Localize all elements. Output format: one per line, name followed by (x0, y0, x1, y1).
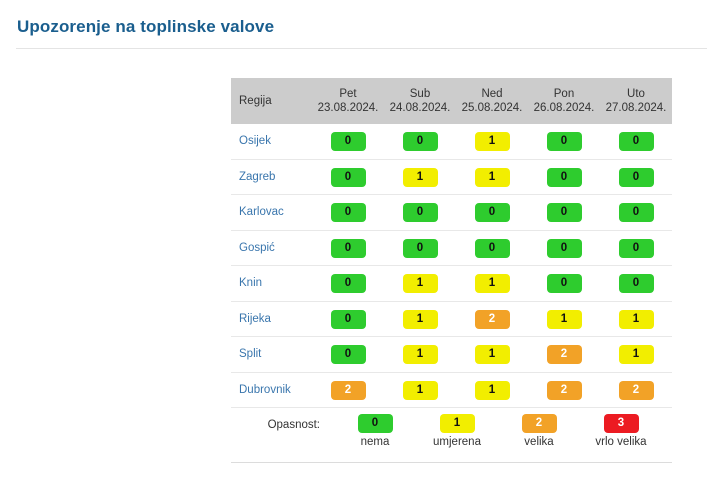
page-title: Upozorenje na toplinske valove (17, 17, 274, 37)
heat-wave-warning-page: Upozorenje na toplinske valove Regija Pe… (0, 0, 723, 494)
warning-level-cell: 1 (384, 159, 456, 195)
column-header-day-0: Pet 23.08.2024. (312, 78, 384, 124)
warning-level-badge: 1 (475, 132, 510, 151)
day-date-3: 26.08.2024. (528, 101, 600, 115)
warning-level-cell: 0 (528, 124, 600, 160)
warning-level-badge: 1 (619, 310, 654, 329)
warning-level-cell: 1 (456, 372, 528, 408)
warning-level-cell: 0 (600, 266, 672, 302)
day-date-2: 25.08.2024. (456, 101, 528, 115)
warning-level-badge: 2 (619, 381, 654, 400)
day-name-1: Sub (384, 87, 456, 101)
table-row: Zagreb01100 (231, 159, 672, 195)
legend-item-label: nema (361, 436, 390, 448)
warning-level-cell: 1 (600, 337, 672, 373)
table-header-row: Regija Pet 23.08.2024. Sub 24.08.2024. N… (231, 78, 672, 124)
warning-level-badge: 2 (547, 381, 582, 400)
warning-level-badge: 1 (403, 381, 438, 400)
warning-level-badge: 0 (475, 239, 510, 258)
warning-level-cell: 0 (600, 230, 672, 266)
warning-level-badge: 1 (475, 345, 510, 364)
warning-level-badge: 0 (547, 132, 582, 151)
warning-level-badge: 0 (547, 168, 582, 187)
table-body: Osijek00100Zagreb01100Karlovac00000Gospi… (231, 124, 672, 408)
warning-level-badge: 1 (403, 345, 438, 364)
warning-level-badge: 0 (331, 310, 366, 329)
warning-level-cell: 0 (600, 159, 672, 195)
day-date-0: 23.08.2024. (312, 101, 384, 115)
warning-level-badge: 1 (475, 168, 510, 187)
legend-item-label: vrlo velika (595, 436, 646, 448)
day-name-3: Pon (528, 87, 600, 101)
heat-warning-table-container: Regija Pet 23.08.2024. Sub 24.08.2024. N… (231, 78, 672, 408)
warning-level-cell: 0 (312, 230, 384, 266)
warning-level-cell: 1 (384, 372, 456, 408)
warning-level-cell: 1 (384, 301, 456, 337)
legend-item: 1umjerena (416, 414, 498, 448)
warning-level-cell: 2 (312, 372, 384, 408)
legend-item: 2velika (498, 414, 580, 448)
legend-label: Opasnost: (231, 404, 330, 431)
warning-level-badge: 0 (331, 132, 366, 151)
warning-level-cell: 0 (528, 230, 600, 266)
warning-level-cell: 1 (456, 266, 528, 302)
table-header: Regija Pet 23.08.2024. Sub 24.08.2024. N… (231, 78, 672, 124)
warning-level-badge: 0 (619, 203, 654, 222)
warning-level-badge: 1 (475, 274, 510, 293)
region-name-cell[interactable]: Split (231, 337, 312, 373)
warning-level-badge: 0 (403, 132, 438, 151)
day-name-0: Pet (312, 87, 384, 101)
legend-badge: 2 (522, 414, 557, 433)
day-name-4: Uto (600, 87, 672, 101)
region-name-cell[interactable]: Karlovac (231, 195, 312, 231)
warning-level-cell: 1 (384, 266, 456, 302)
warning-level-badge: 0 (331, 345, 366, 364)
warning-level-cell: 0 (312, 195, 384, 231)
warning-level-cell: 1 (456, 337, 528, 373)
warning-level-cell: 0 (312, 337, 384, 373)
table-row: Dubrovnik21122 (231, 372, 672, 408)
warning-level-cell: 1 (456, 124, 528, 160)
warning-level-badge: 1 (475, 381, 510, 400)
warning-level-badge: 2 (331, 381, 366, 400)
warning-level-cell: 0 (600, 195, 672, 231)
warning-level-cell: 2 (456, 301, 528, 337)
warning-level-cell: 1 (384, 337, 456, 373)
legend-item-label: velika (524, 436, 553, 448)
warning-level-cell: 0 (384, 124, 456, 160)
column-header-day-4: Uto 27.08.2024. (600, 78, 672, 124)
warning-level-badge: 0 (547, 203, 582, 222)
legend-items: 0nema1umjerena2velika3vrlo velika (330, 404, 672, 448)
warning-level-cell: 0 (600, 124, 672, 160)
warning-level-cell: 0 (528, 159, 600, 195)
warning-level-badge: 0 (331, 203, 366, 222)
warning-level-cell: 0 (528, 195, 600, 231)
legend-badge: 3 (604, 414, 639, 433)
column-header-region: Regija (231, 78, 312, 124)
title-divider (16, 48, 707, 49)
warning-level-cell: 0 (384, 230, 456, 266)
legend-divider (231, 462, 672, 463)
column-header-day-2: Ned 25.08.2024. (456, 78, 528, 124)
region-name-cell[interactable]: Knin (231, 266, 312, 302)
column-header-day-3: Pon 26.08.2024. (528, 78, 600, 124)
warning-level-badge: 0 (331, 239, 366, 258)
table-row: Karlovac00000 (231, 195, 672, 231)
legend-item-label: umjerena (433, 436, 481, 448)
warning-level-cell: 0 (456, 230, 528, 266)
warning-level-badge: 1 (547, 310, 582, 329)
table-row: Osijek00100 (231, 124, 672, 160)
warning-level-badge: 0 (403, 239, 438, 258)
region-name-cell[interactable]: Osijek (231, 124, 312, 160)
danger-legend: Opasnost: 0nema1umjerena2velika3vrlo vel… (231, 404, 672, 462)
warning-level-badge: 1 (619, 345, 654, 364)
warning-level-cell: 1 (528, 301, 600, 337)
warning-level-badge: 0 (331, 168, 366, 187)
legend-item: 0nema (334, 414, 416, 448)
warning-level-badge: 1 (403, 168, 438, 187)
region-name-cell[interactable]: Zagreb (231, 159, 312, 195)
warning-level-cell: 2 (600, 372, 672, 408)
day-date-4: 27.08.2024. (600, 101, 672, 115)
legend-item: 3vrlo velika (580, 414, 662, 448)
table-row: Rijeka01211 (231, 301, 672, 337)
region-name-cell[interactable]: Gospić (231, 230, 312, 266)
region-name-cell[interactable]: Dubrovnik (231, 372, 312, 408)
day-name-2: Ned (456, 87, 528, 101)
warning-level-badge: 1 (403, 310, 438, 329)
warning-level-cell: 1 (600, 301, 672, 337)
warning-level-badge: 0 (619, 239, 654, 258)
table-row: Split01121 (231, 337, 672, 373)
warning-level-badge: 0 (547, 274, 582, 293)
warning-level-badge: 0 (619, 168, 654, 187)
table-row: Knin01100 (231, 266, 672, 302)
warning-level-badge: 0 (619, 274, 654, 293)
legend-badge: 0 (358, 414, 393, 433)
column-header-day-1: Sub 24.08.2024. (384, 78, 456, 124)
warning-level-cell: 0 (384, 195, 456, 231)
warning-level-cell: 2 (528, 372, 600, 408)
warning-level-cell: 1 (456, 159, 528, 195)
warning-level-cell: 0 (312, 124, 384, 160)
warning-level-badge: 2 (547, 345, 582, 364)
warning-level-badge: 0 (619, 132, 654, 151)
warning-level-cell: 0 (528, 266, 600, 302)
warning-level-badge: 2 (475, 310, 510, 329)
heat-warning-table: Regija Pet 23.08.2024. Sub 24.08.2024. N… (231, 78, 672, 408)
warning-level-badge: 0 (547, 239, 582, 258)
warning-level-badge: 0 (331, 274, 366, 293)
table-row: Gospić00000 (231, 230, 672, 266)
warning-level-cell: 0 (312, 301, 384, 337)
warning-level-cell: 0 (456, 195, 528, 231)
warning-level-badge: 0 (403, 203, 438, 222)
region-name-cell[interactable]: Rijeka (231, 301, 312, 337)
legend-badge: 1 (440, 414, 475, 433)
warning-level-cell: 2 (528, 337, 600, 373)
warning-level-badge: 0 (475, 203, 510, 222)
day-date-1: 24.08.2024. (384, 101, 456, 115)
warning-level-badge: 1 (403, 274, 438, 293)
warning-level-cell: 0 (312, 266, 384, 302)
warning-level-cell: 0 (312, 159, 384, 195)
